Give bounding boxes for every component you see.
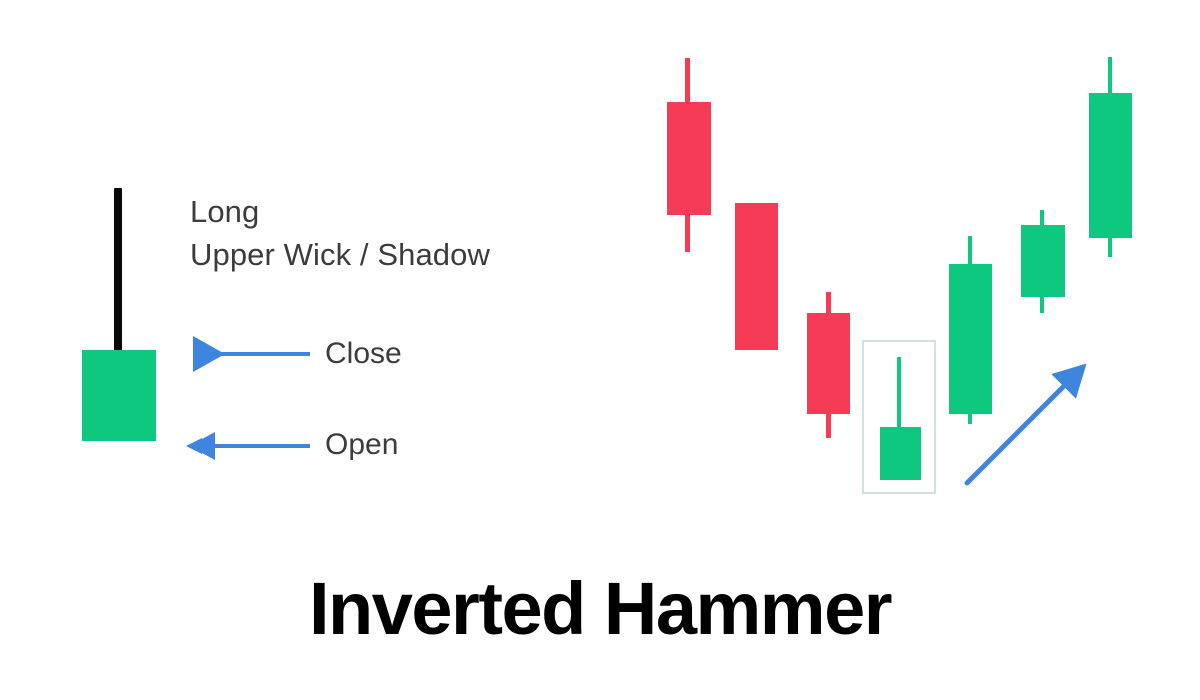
candle-4-wick: [897, 357, 901, 429]
upper-wick-label: LongUpper Wick / Shadow: [190, 190, 490, 276]
candle-1-body: [667, 102, 711, 215]
diagram-canvas: LongUpper Wick / Shadow Close Open: [0, 0, 1200, 700]
example-upper-wick: [114, 188, 122, 352]
candle-4-body: [880, 427, 921, 480]
candle-7-body: [1089, 93, 1132, 238]
example-candle-body: [82, 350, 156, 441]
candle-6-body: [1021, 225, 1065, 297]
candle-5-body: [949, 264, 992, 414]
upper-wick-label-line1: Long: [190, 194, 259, 229]
candle-2-body: [735, 203, 778, 350]
candle-3-body: [807, 313, 850, 414]
open-pointer-arrowhead: [186, 438, 202, 454]
upper-wick-label-line2: Upper Wick / Shadow: [190, 237, 490, 272]
open-label: Open: [325, 430, 398, 460]
close-label: Close: [325, 339, 402, 369]
page-title: Inverted Hammer: [0, 572, 1200, 646]
